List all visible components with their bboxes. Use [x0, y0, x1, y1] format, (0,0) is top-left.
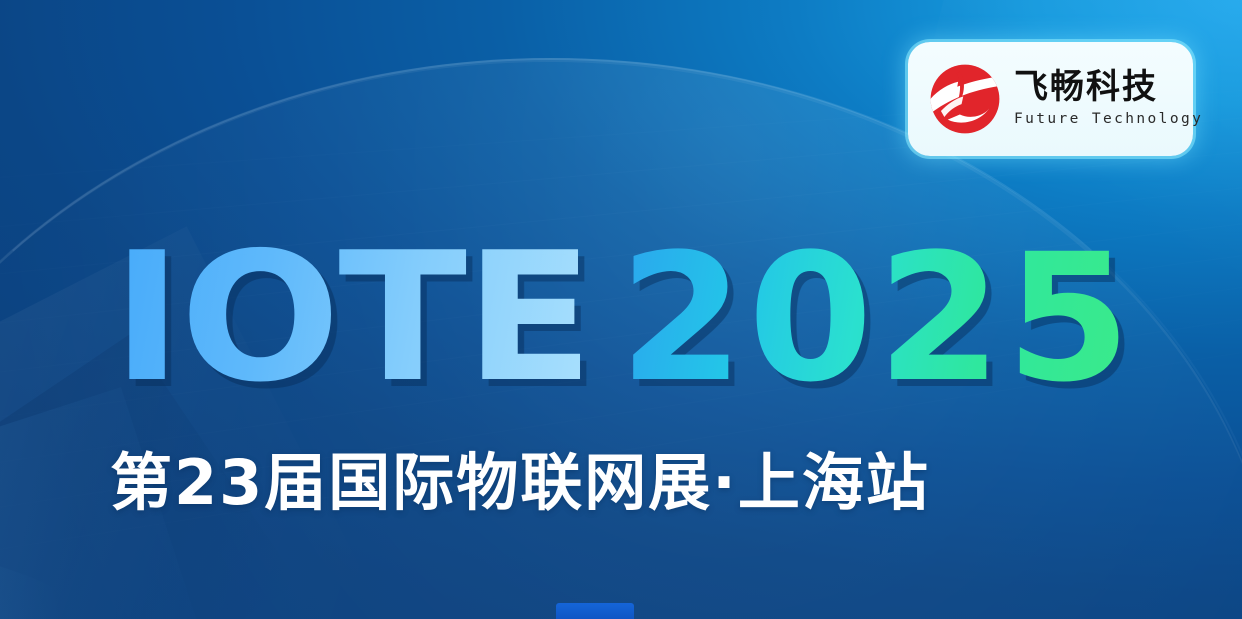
company-logo-text: 飞畅科技 Future Technology	[1014, 70, 1203, 128]
headline: IOTE 2025	[112, 243, 1124, 391]
company-name-en: Future Technology	[1014, 111, 1203, 128]
company-logo-badge[interactable]: 飞畅科技 Future Technology	[908, 42, 1193, 156]
event-name-text: IOTE	[112, 245, 592, 391]
event-subtitle: 第23届国际物联网展·上海站	[110, 452, 930, 514]
company-name-cn: 飞畅科技	[1014, 70, 1203, 106]
feichang-globe-logo-icon	[922, 56, 1008, 142]
event-year-text: 2025	[619, 247, 1135, 391]
bottom-accent-chip	[556, 603, 634, 619]
banner-root: 飞畅科技 Future Technology IOTE 2025 第23届国际物…	[0, 0, 1242, 619]
